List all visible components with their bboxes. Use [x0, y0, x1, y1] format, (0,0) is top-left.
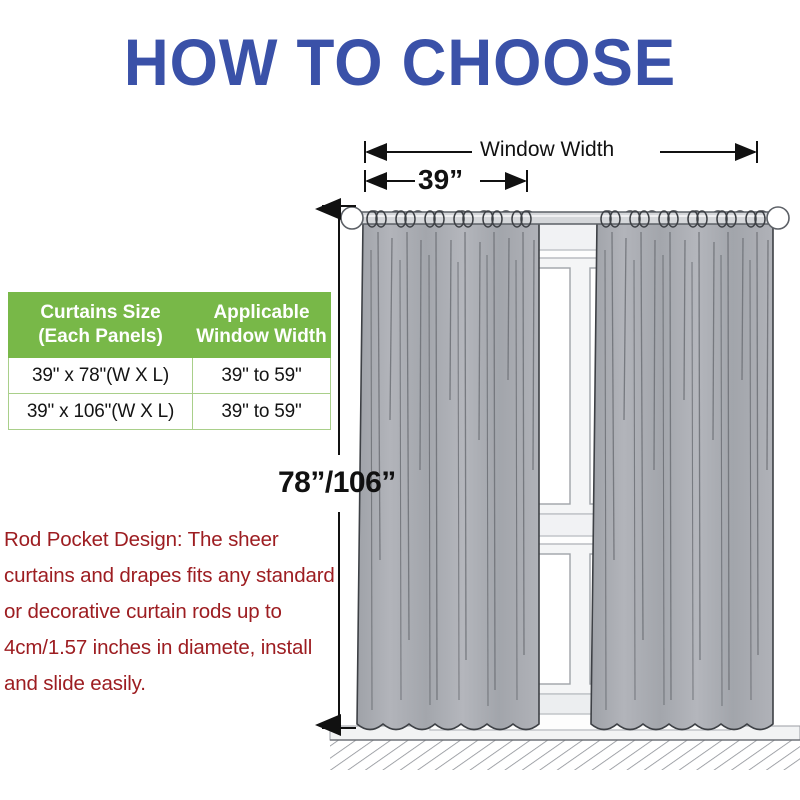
column-header-curtains-size: Curtains Size (Each Panels)	[9, 293, 193, 358]
cell-curtain-size: 39" x 78"(W X L)	[9, 358, 193, 394]
floor	[330, 726, 800, 770]
cell-window-width: 39" to 59"	[193, 394, 331, 430]
table-header-row: Curtains Size (Each Panels) Applicable W…	[9, 293, 331, 358]
label-panel-width: 39”	[418, 164, 463, 196]
how-to-choose-infographic: HOW TO CHOOSE	[0, 0, 800, 800]
right-curtain-panel	[591, 211, 773, 730]
column-header-line-2: Window Width	[195, 325, 328, 349]
label-curtain-length: 78”/106”	[278, 466, 396, 500]
column-header-line-2: (Each Panels)	[11, 325, 190, 349]
rod-finial-right	[767, 207, 789, 229]
column-header-applicable-window-width: Applicable Window Width	[193, 293, 331, 358]
label-window-width: Window Width	[480, 138, 614, 162]
table-row: 39" x 106"(W X L) 39" to 59"	[9, 394, 331, 430]
curtain-size-table: Curtains Size (Each Panels) Applicable W…	[8, 292, 331, 430]
window-frame	[430, 222, 730, 730]
curtain-rod	[341, 207, 789, 229]
page-title: HOW TO CHOOSE	[24, 28, 776, 97]
cell-window-width: 39" to 59"	[193, 358, 331, 394]
cell-curtain-size: 39" x 106"(W X L)	[9, 394, 193, 430]
window-panes	[452, 268, 708, 684]
curtain-rings	[367, 211, 765, 227]
table-row: 39" x 78"(W X L) 39" to 59"	[9, 358, 331, 394]
column-header-line-1: Curtains Size	[11, 301, 190, 325]
column-header-line-1: Applicable	[195, 301, 328, 325]
rod-finial-left	[341, 207, 363, 229]
rod-pocket-design-note: Rod Pocket Design: The sheer curtains an…	[4, 522, 340, 702]
